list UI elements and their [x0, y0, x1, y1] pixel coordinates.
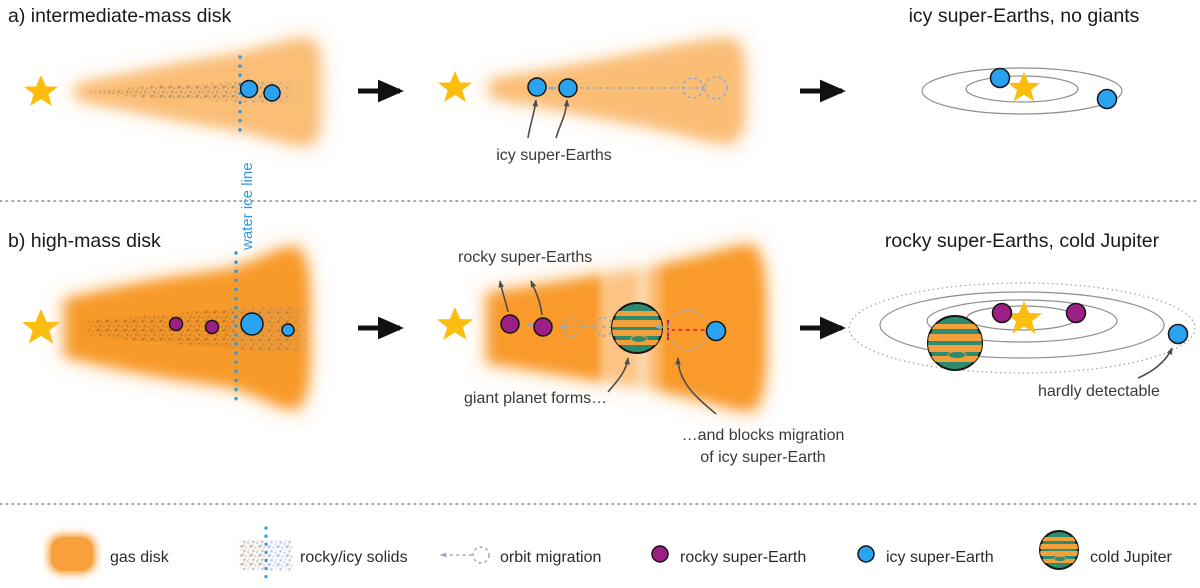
cold-jupiter-outcome[interactable] — [927, 316, 983, 370]
row-b-stage3-outcome-panel: rocky super-Earths, cold Jupiter — [849, 230, 1195, 400]
legend-label-rocky-super-earth: rocky super-Earth — [680, 549, 806, 566]
icy-super-earth-a2-inner[interactable] — [528, 78, 546, 96]
row-b: b) high-mass disk — [8, 230, 1195, 466]
icy-super-earth-a-outcome-2[interactable] — [1098, 90, 1117, 109]
icy-super-earth-a2-outer[interactable] — [559, 79, 577, 97]
icy-super-earth-b2[interactable] — [282, 324, 294, 336]
blue-dot-icon — [858, 546, 874, 562]
row-a-stage3-outcome-panel: icy super-Earths, no giants — [909, 5, 1140, 114]
legend-label-icy-super-earth: icy super-Earth — [886, 549, 994, 566]
central-star — [438, 71, 472, 102]
annotation-blocks-migration-line1: …and blocks migration — [682, 427, 845, 444]
rocky-super-earth-b2a[interactable] — [501, 315, 519, 333]
row-b-title: b) high-mass disk — [8, 230, 161, 252]
row-a-outcome-title: icy super-Earths, no giants — [909, 5, 1140, 27]
annotation-rocky-super-earths: rocky super-Earths — [458, 249, 592, 266]
row-b-stage1-disk-panel — [22, 240, 314, 416]
banded-planet-icon — [1039, 531, 1079, 569]
rocky-super-earth-b2b[interactable] — [534, 318, 552, 336]
icy-super-earth-a-outcome-1[interactable] — [991, 69, 1010, 88]
icy-super-earth-a1[interactable] — [241, 81, 258, 98]
dashed-arrow-swatch-icon — [441, 547, 489, 563]
annotation-giant-planet-forms: giant planet forms… — [464, 390, 607, 407]
figure-canvas: a) intermediate-mass disk — [0, 0, 1200, 588]
row-b-stage2-giant-panel: rocky super-Earths — [437, 236, 844, 466]
row-a-stage2-migration-panel: icy super-Earths — [438, 34, 750, 164]
row-b-outcome-title: rocky super-Earths, cold Jupiter — [885, 230, 1160, 252]
annotation-hardly-detectable: hardly detectable — [1038, 383, 1160, 400]
central-star — [24, 75, 58, 106]
diagram-svg: a) intermediate-mass disk — [0, 0, 1200, 588]
orange-blob-swatch-icon — [48, 534, 96, 574]
cold-jupiter-forming[interactable] — [611, 303, 663, 353]
legend-item-icy-super-earth[interactable]: icy super-Earth — [858, 546, 994, 566]
legend-label-rocky-icy-solids: rocky/icy solids — [300, 549, 408, 566]
legend-item-cold-jupiter[interactable]: cold Jupiter — [1039, 531, 1172, 569]
annotation-blocks-migration-line2: of icy super-Earth — [700, 449, 825, 466]
legend-label-cold-jupiter: cold Jupiter — [1090, 549, 1172, 566]
row-a: a) intermediate-mass disk — [8, 5, 1140, 164]
legend-item-gas-disk[interactable]: gas disk — [48, 534, 170, 574]
rocky-super-earth-b1[interactable] — [170, 318, 183, 331]
central-star — [22, 309, 60, 344]
legend-label-gas-disk: gas disk — [110, 549, 170, 566]
legend-item-rocky-icy-solids[interactable]: rocky/icy solids — [240, 528, 408, 582]
gas-disk-a2 — [484, 34, 750, 148]
legend: gas disk rocky/icy solids orbit migratio… — [48, 528, 1172, 582]
central-star — [437, 307, 473, 340]
orbit-icy-b — [849, 283, 1195, 373]
rocky-super-earth-b2[interactable] — [206, 321, 219, 334]
icy-super-earth-b-outcome[interactable] — [1169, 325, 1188, 344]
legend-item-rocky-super-earth[interactable]: rocky super-Earth — [652, 546, 806, 566]
row-a-title: a) intermediate-mass disk — [8, 5, 231, 27]
icy-super-earth-a2[interactable] — [264, 85, 280, 101]
legend-item-orbit-migration[interactable]: orbit migration — [441, 547, 601, 566]
row-a-stage1-disk-panel — [24, 34, 326, 150]
annotation-icy-super-earths: icy super-Earths — [496, 147, 612, 164]
purple-dot-icon — [652, 546, 668, 562]
legend-label-orbit-migration: orbit migration — [500, 549, 601, 566]
icy-super-earth-b1[interactable] — [241, 313, 263, 335]
water-ice-line-label: water ice line — [239, 162, 256, 251]
rocky-super-earth-b-outcome-1[interactable] — [993, 304, 1012, 323]
rocky-super-earth-b-outcome-2[interactable] — [1067, 304, 1086, 323]
icy-super-earth-b2-blocked[interactable] — [707, 322, 726, 341]
